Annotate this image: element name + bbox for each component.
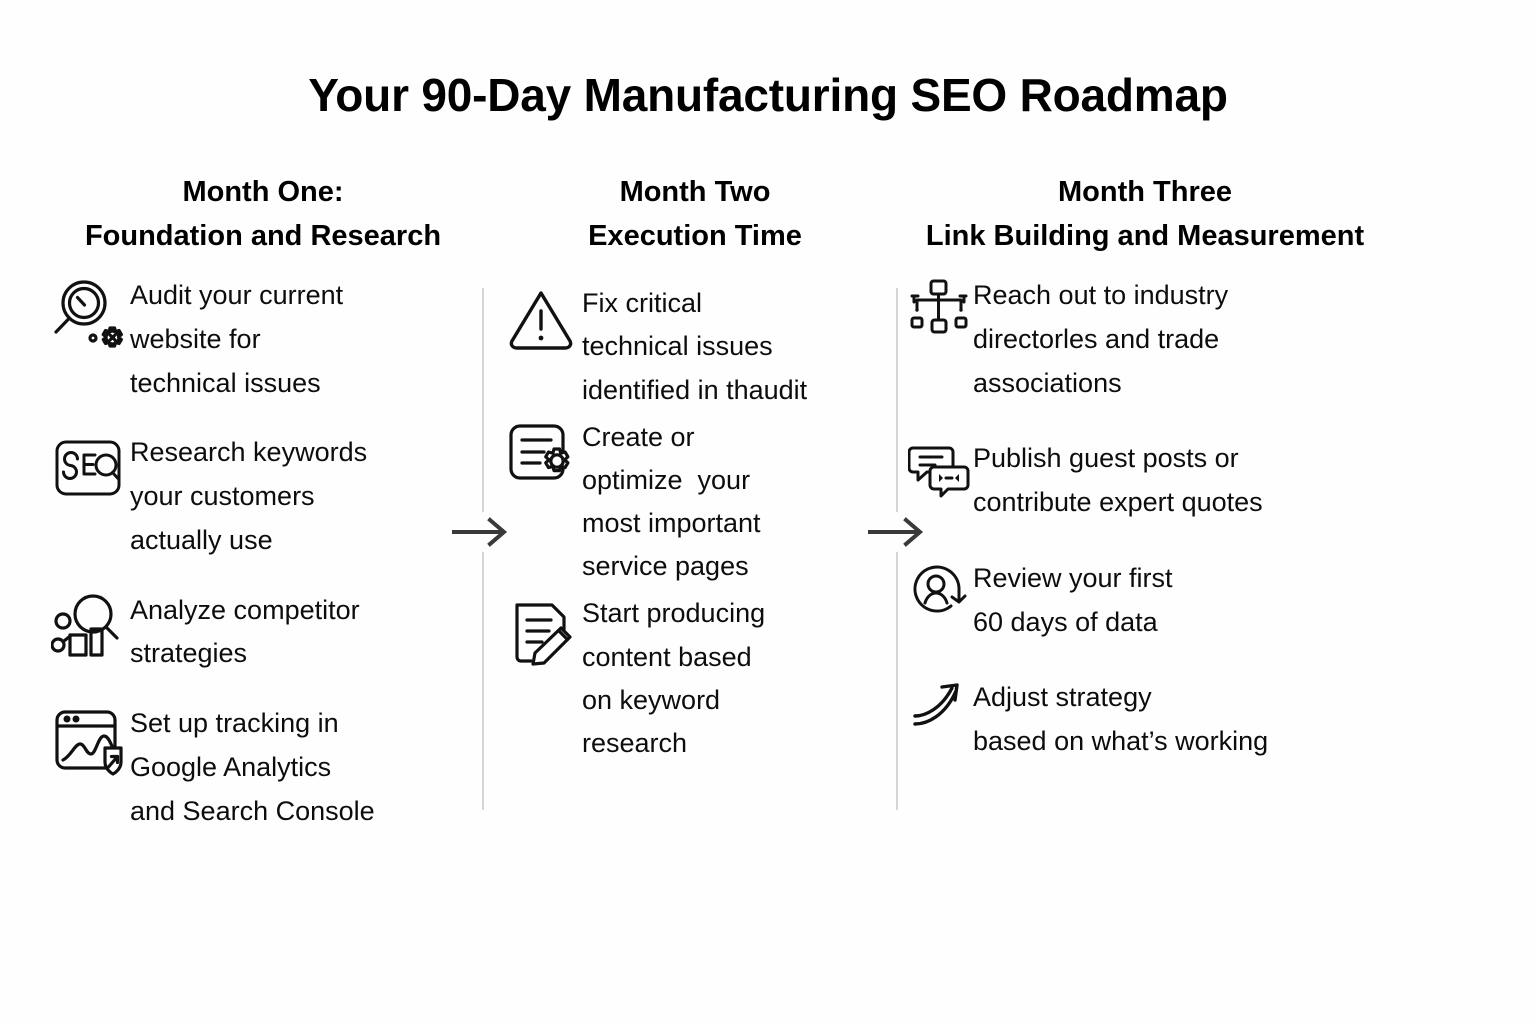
flow-arrow-month-two-to-three — [868, 512, 930, 552]
network-hierarchy-icon — [905, 272, 973, 338]
list-item: Publish guest posts or contribute expert… — [905, 435, 1385, 524]
list-item: Research keywords your customers actuall… — [48, 429, 478, 562]
list-item: Review your first 60 days of data — [905, 555, 1385, 644]
list-item-text: Start producing content based on keyword… — [582, 590, 765, 765]
flow-arrow-month-one-to-two — [452, 512, 514, 552]
chat-bubbles-icon — [905, 435, 973, 499]
column-month-three: Month Three Link Building and Measuremen… — [905, 170, 1385, 794]
column-month-two: Month Two Execution Time Fix critical te… — [500, 170, 890, 767]
list-item: Reach out to industry directorles and tr… — [905, 272, 1385, 405]
review-refresh-icon — [905, 555, 973, 619]
list-item-text: Publish guest posts or contribute expert… — [973, 435, 1263, 524]
magnifier-gear-icon — [48, 272, 130, 354]
column-month-one: Month One: Foundation and Research — [48, 170, 478, 857]
infographic-canvas: Your 90-Day Manufacturing SEO Roadmap Mo… — [0, 0, 1536, 1024]
list-item: Adjust strategy based on what’s working — [905, 674, 1385, 763]
list-item-text: Analyze competitor strategies — [130, 587, 360, 676]
column-two-heading: Month Two Execution Time — [500, 170, 890, 258]
column-three-heading-line1: Month Three — [905, 170, 1385, 214]
list-item: Start producing content based on keyword… — [500, 590, 890, 765]
column-two-items: Fix critical technical issues identified… — [500, 280, 890, 765]
list-item-text: Research keywords your customers actuall… — [130, 429, 367, 562]
list-item: Fix critical technical issues identified… — [500, 280, 890, 412]
column-three-heading: Month Three Link Building and Measuremen… — [905, 170, 1385, 258]
column-divider-one-upper — [482, 288, 484, 512]
list-item: Analyze competitor strategies — [48, 587, 478, 676]
list-item-text: Fix critical technical issues identified… — [582, 280, 807, 412]
column-two-heading-line2: Execution Time — [500, 214, 890, 258]
competitor-analysis-icon — [48, 587, 130, 663]
column-divider-two-lower — [896, 552, 898, 810]
document-gear-icon — [500, 414, 582, 490]
column-one-heading: Month One: Foundation and Research — [48, 170, 478, 258]
seo-box-icon — [48, 429, 130, 503]
list-item-text: Create or optimize your most important s… — [582, 414, 761, 589]
list-item-text: Set up tracking in Google Analytics and … — [130, 700, 375, 833]
column-divider-two-upper — [896, 288, 898, 512]
column-one-heading-line1: Month One: — [48, 170, 478, 214]
list-item-text: Reach out to industry directorles and tr… — [973, 272, 1228, 405]
warning-triangle-icon — [500, 280, 582, 354]
list-item-text: Review your first 60 days of data — [973, 555, 1173, 644]
list-item-text: Audit your current website for technical… — [130, 272, 343, 405]
column-divider-one-lower — [482, 552, 484, 810]
list-item: Create or optimize your most important s… — [500, 414, 890, 589]
column-three-items: Reach out to industry directorles and tr… — [905, 272, 1385, 764]
column-three-heading-line2: Link Building and Measurement — [905, 214, 1385, 258]
document-edit-icon — [500, 590, 582, 668]
column-two-heading-line1: Month Two — [500, 170, 890, 214]
list-item-text: Adjust strategy based on what’s working — [973, 674, 1268, 763]
growth-arrow-icon — [905, 674, 973, 736]
column-one-items: Audit your current website for technical… — [48, 272, 478, 833]
column-one-heading-line2: Foundation and Research — [48, 214, 478, 258]
page-title: Your 90-Day Manufacturing SEO Roadmap — [0, 68, 1536, 122]
list-item: Set up tracking in Google Analytics and … — [48, 700, 478, 833]
analytics-tracking-icon — [48, 700, 130, 780]
list-item: Audit your current website for technical… — [48, 272, 478, 405]
